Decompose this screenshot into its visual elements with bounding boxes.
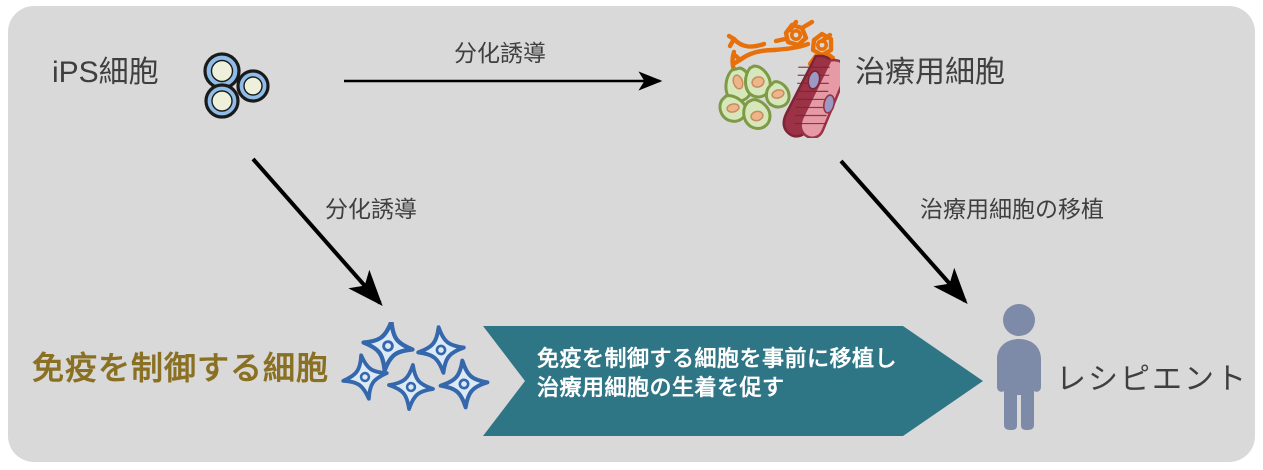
recipient-person-icon [986, 303, 1052, 431]
diagram-canvas: 免疫を制御する細胞を事前に移植し 治療用細胞の生着を促す iPS細胞 治療用細胞… [0, 0, 1263, 470]
label-ips-cells: iPS細胞 [52, 58, 159, 88]
therapeutic-cell-cluster-icon [690, 8, 840, 138]
label-immune-regulatory-cells: 免疫を制御する細胞 [32, 352, 329, 384]
label-arrow-left-differentiation: 分化誘導 [325, 198, 417, 221]
star-cell [416, 325, 466, 375]
immune-regulatory-cell-cluster-icon [336, 322, 496, 422]
label-arrow-top-differentiation: 分化誘導 [454, 42, 546, 65]
label-arrow-right-transplant: 治療用細胞の移植 [920, 198, 1104, 221]
banner-text: 免疫を制御する細胞を事前に移植し 治療用細胞の生着を促す [537, 344, 897, 402]
star-cell [439, 359, 489, 409]
label-recipient: レシピエント [1056, 365, 1248, 395]
label-therapeutic-cells: 治療用細胞 [855, 58, 1005, 88]
star-cell [387, 363, 435, 411]
ips-cell-cluster-icon [196, 52, 278, 120]
banner-line-2: 治療用細胞の生着を促す [537, 373, 897, 402]
arrow-right-transplant [841, 161, 965, 301]
banner-line-1: 免疫を制御する細胞を事前に移植し [537, 344, 897, 373]
arrow-left-differentiation [253, 159, 380, 303]
